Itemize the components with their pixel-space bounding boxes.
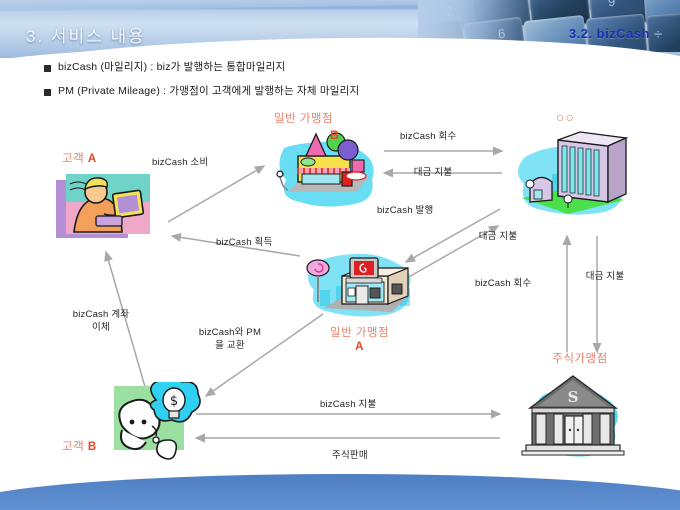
flow-label-stock-to-b: 주식판매 — [332, 449, 368, 462]
bank-building-icon: S — [518, 366, 628, 458]
svg-text:$: $ — [170, 394, 178, 409]
flow-label-b-to-stock: bizCash 지불 — [320, 398, 376, 411]
node-label-merchant-a: 일반 가맹점 A — [330, 326, 389, 354]
slide-footer — [0, 462, 680, 510]
merchant-b-label: 일반 가맹점 — [274, 113, 333, 125]
section-label: 3.2. bizCash — [569, 26, 650, 41]
flow-label-stock-to-corporate: bizCash 회수 — [475, 277, 531, 290]
bullet-square-icon — [44, 89, 51, 96]
flow-label-corporate-to-stock: 대금 지불 — [584, 270, 626, 283]
slide: 2 6 9 ÷ 3. 서비스 내용 3.2. bizCash bizCash (… — [0, 0, 680, 510]
footer-band-dark — [0, 474, 680, 510]
node-label-merchant-b: 일반 가맹점 — [274, 112, 333, 126]
customer-a-label: 고객 — [62, 153, 84, 165]
customer-b-accent: B — [88, 441, 97, 453]
bullet-list: bizCash (마일리지) : biz가 발행하는 통합마일리지 PM (Pr… — [44, 60, 564, 108]
flow-label-merchant-a-to-a: bizCash 획득 — [216, 236, 272, 249]
bullet-item: PM (Private Mileage) : 가맹점이 고객에게 발행하는 자체… — [44, 84, 564, 98]
flow-label-a-to-merchant-b: bizCash 소비 — [152, 156, 208, 169]
bullet-text: bizCash (마일리지) : biz가 발행하는 통합마일리지 — [58, 60, 285, 74]
party-shop-icon — [268, 126, 380, 212]
bullet-square-icon — [44, 65, 51, 72]
flow-label-b-to-a: bizCash 계좌이체 — [72, 308, 130, 334]
merchant-a-accent: A — [355, 341, 364, 353]
key-glyph-9: 9 — [607, 0, 616, 9]
key-glyph-divide: ÷ — [654, 26, 662, 43]
merchant-b-accent-label: B — [330, 128, 339, 142]
flow-label-merchant-a-to-corporate: 대금 지불 — [477, 230, 519, 243]
pc-cafe-shop-icon — [296, 242, 424, 326]
flow-diagram: 고객 A 일반 가맹점 — [0, 104, 680, 470]
thinking-character-icon: $ — [98, 382, 206, 466]
bullet-text: PM (Private Mileage) : 가맹점이 고객에게 발행하는 자체… — [58, 84, 359, 98]
flow-label-merchant-a-to-b: bizCash와 PM 을 교환 — [194, 326, 266, 352]
node-label-stock-merchant: 주식가맹점 — [534, 352, 626, 366]
arrow-a-to-merchant-b — [168, 166, 264, 222]
node-label-customer-a: 고객 A — [62, 152, 97, 166]
flow-label-corporate-to-merchant-b: 대금 지불 — [412, 166, 454, 179]
flow-label-merchant-b-to-corporate: bizCash 회수 — [400, 130, 456, 143]
merchant-a-label: 일반 가맹점 — [330, 327, 389, 339]
node-label-corporate: ○○ — [556, 110, 575, 124]
customer-b-label: 고객 — [62, 441, 84, 453]
page-title: 3. 서비스 내용 — [26, 22, 146, 47]
flow-label-corporate-to-merchant-a: bizCash 발행 — [377, 204, 433, 217]
bullet-item: bizCash (마일리지) : biz가 발행하는 통합마일리지 — [44, 60, 564, 74]
node-label-customer-b: 고객 B — [62, 440, 97, 454]
svg-text:S: S — [568, 388, 579, 406]
person-at-computer-icon — [52, 172, 168, 248]
customer-a-accent: A — [88, 153, 97, 165]
slide-header: 2 6 9 ÷ 3. 서비스 내용 3.2. bizCash — [0, 0, 680, 58]
office-building-icon — [508, 124, 634, 218]
